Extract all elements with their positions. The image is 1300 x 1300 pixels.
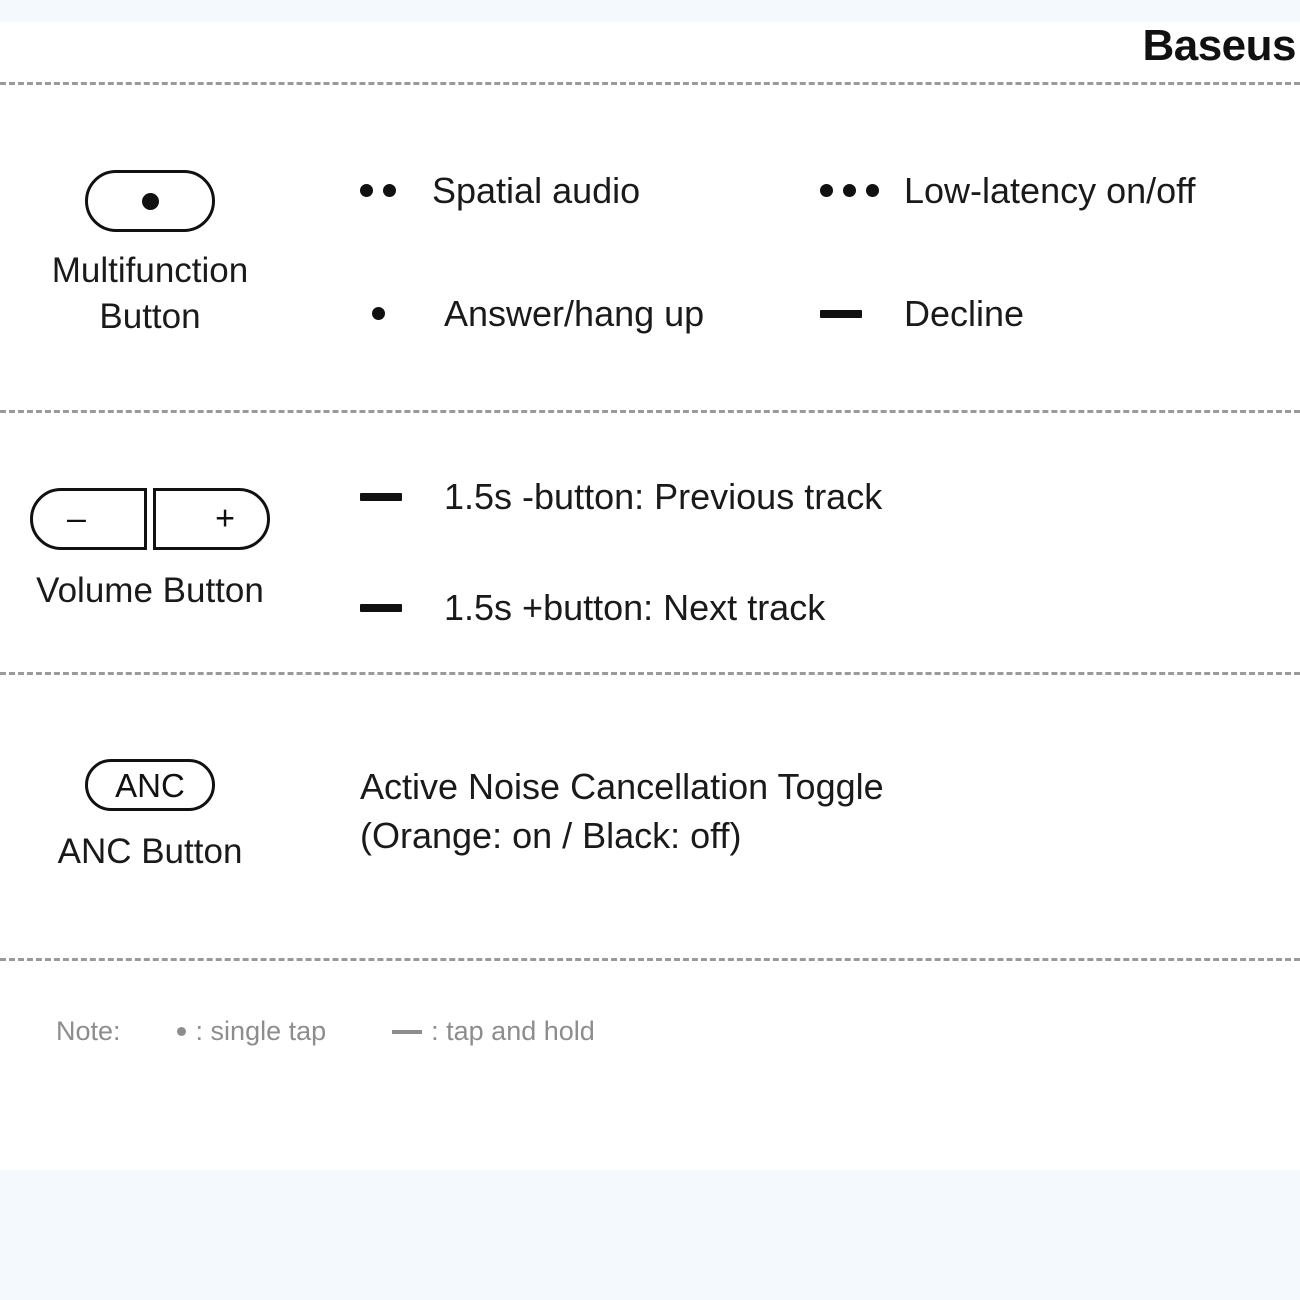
function-answer-hangup: Answer/hang up [360,291,830,336]
function-low-latency: Low-latency on/off [820,168,1290,213]
note-row: Note: : single tap : tap and hold [56,1018,595,1045]
single-tap-icon [177,1027,186,1036]
volume-pill-icon: – + [30,488,270,550]
tap-and-hold-icon [392,1030,422,1034]
divider-after-volume [0,672,1300,675]
anc-pill-text: ANC [115,769,185,802]
tap-and-hold-icon [360,474,430,519]
volume-button-illustration: – + Volume Button [0,470,300,614]
function-label: Decline [904,291,1024,336]
volume-up-half: + [153,488,270,550]
divider-top [0,82,1300,85]
function-previous-track: 1.5s -button: Previous track [360,474,1060,519]
anc-button-illustration: ANC ANC Button [0,745,300,875]
section-volume: – + Volume Button 1.5s -button: Previous… [0,470,1300,650]
double-tap-icon [360,168,418,213]
anc-description-column: Active Noise Cancellation Toggle (Orange… [360,745,1060,860]
section-anc: ANC ANC Button Active Noise Cancellation… [0,745,1300,935]
function-label: Low-latency on/off [904,168,1196,213]
function-spatial-audio: Spatial audio [360,168,830,213]
multifunction-pill-icon [85,170,215,232]
note-single-tap: : single tap [177,1018,327,1045]
triple-tap-icon [820,168,890,213]
note-text: : tap and hold [431,1018,595,1045]
multifunction-functions-column-2: Low-latency on/off Decline [820,150,1290,337]
anc-pill-icon: ANC [85,759,215,811]
note-text: : single tap [196,1018,327,1045]
multifunction-button-illustration: Multifunction Button [0,150,300,340]
section-multifunction: Multifunction Button Spatial audio Answe… [0,150,1300,390]
multifunction-button-label: Multifunction Button [0,248,300,340]
brand-logo: Baseus [1142,24,1296,68]
volume-functions-column: 1.5s -button: Previous track 1.5s +butto… [360,470,1060,631]
volume-button-label: Volume Button [0,568,300,614]
plus-sign-icon: + [215,501,235,535]
volume-down-half: – [30,488,147,550]
anc-button-label: ANC Button [0,829,300,875]
single-tap-icon [360,291,430,336]
function-label: Answer/hang up [444,291,704,336]
note-label: Note: [56,1018,121,1045]
function-label: Spatial audio [432,168,640,213]
function-label: 1.5s +button: Next track [444,585,825,630]
divider-after-anc [0,958,1300,961]
multifunction-functions-column-1: Spatial audio Answer/hang up [360,150,830,337]
anc-description: Active Noise Cancellation Toggle (Orange… [360,763,1060,860]
function-decline: Decline [820,291,1290,336]
divider-after-multifunction [0,410,1300,413]
tap-and-hold-icon [360,585,430,630]
page-root: Baseus Multifunction Button Spatial audi… [0,0,1300,1300]
tap-and-hold-icon [820,291,890,336]
center-dot-icon [142,193,159,210]
function-next-track: 1.5s +button: Next track [360,585,1060,630]
minus-sign-icon: – [67,501,86,535]
note-tap-and-hold: : tap and hold [392,1018,595,1045]
function-label: 1.5s -button: Previous track [444,474,882,519]
